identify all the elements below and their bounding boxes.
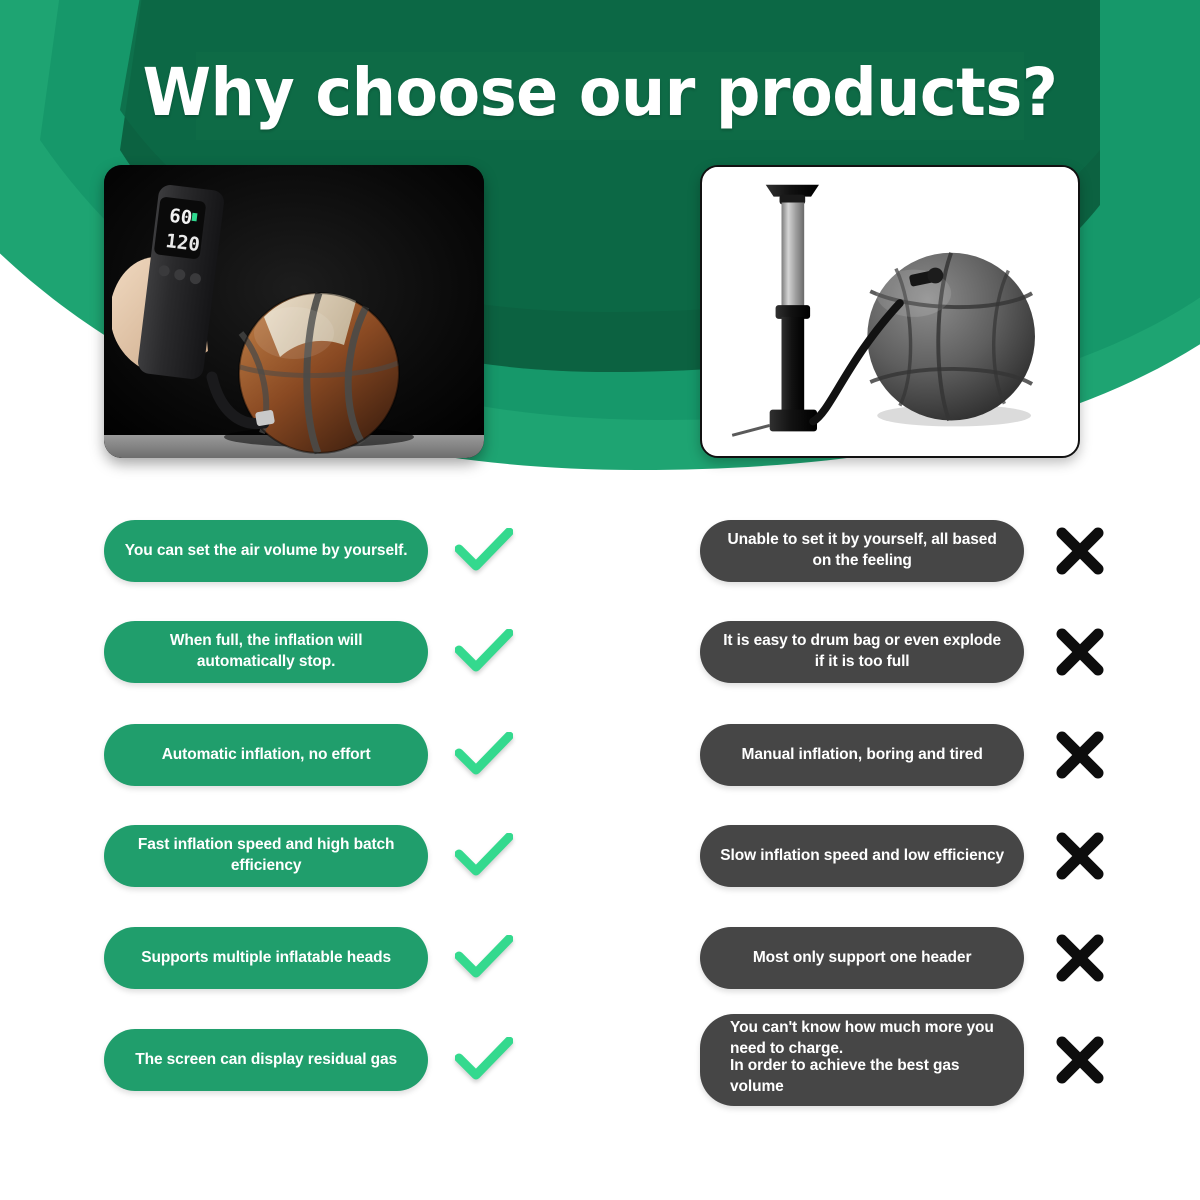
check-mark-2 [434, 629, 534, 675]
con-pill-1[interactable]: Unable to set it by yourself, all based … [700, 520, 1024, 582]
check-icon [455, 732, 513, 778]
pro-row-4[interactable]: Fast inflation speed and high batch effi… [104, 824, 534, 888]
pro-pill-3[interactable]: Automatic inflation, no effort [104, 724, 428, 786]
check-mark-3 [434, 732, 534, 778]
con-row-5[interactable]: Most only support one header [700, 926, 1130, 990]
con-row-6[interactable]: You can't know how much more you need to… [700, 1028, 1130, 1092]
check-icon [455, 833, 513, 879]
check-icon [455, 1037, 513, 1083]
check-icon [455, 528, 513, 574]
con-text-5: Most only support one header [753, 948, 972, 969]
pro-text-4: Fast inflation speed and high batch effi… [124, 835, 408, 876]
con-text-6: In order to achieve the best gas volume [730, 1056, 1004, 1097]
con-pill-4[interactable]: Slow inflation speed and low efficiency [700, 825, 1024, 887]
check-icon [455, 629, 513, 675]
cross-icon [1055, 933, 1105, 983]
pro-text-6: The screen can display residual gas [135, 1050, 397, 1071]
con-row-1[interactable]: Unable to set it by yourself, all based … [700, 519, 1130, 583]
con-row-4[interactable]: Slow inflation speed and low efficiency [700, 824, 1130, 888]
con-pill-3[interactable]: Manual inflation, boring and tired [700, 724, 1024, 786]
pro-text-5: Supports multiple inflatable heads [141, 948, 391, 969]
pro-pill-6[interactable]: The screen can display residual gas [104, 1029, 428, 1091]
cross-icon [1055, 1035, 1105, 1085]
pro-pill-2[interactable]: When full, the inflation will automatica… [104, 621, 428, 683]
cross-mark-6 [1030, 1035, 1130, 1085]
pro-text-3: Automatic inflation, no effort [162, 745, 371, 766]
infographic-root: Why choose our products? [0, 0, 1200, 1200]
check-mark-5 [434, 935, 534, 981]
con-text-2: It is easy to drum bag or even explode i… [720, 631, 1004, 672]
check-mark-1 [434, 528, 534, 574]
pro-text-1: You can set the air volume by yourself. [125, 541, 408, 562]
con-pill-6[interactable]: You can't know how much more you need to… [700, 1014, 1024, 1105]
cross-mark-4 [1030, 831, 1130, 881]
con-row-3[interactable]: Manual inflation, boring and tired [700, 723, 1130, 787]
cross-mark-3 [1030, 730, 1130, 780]
pro-pill-5[interactable]: Supports multiple inflatable heads [104, 927, 428, 989]
cross-icon [1055, 627, 1105, 677]
con-text-1: Unable to set it by yourself, all based … [720, 530, 1004, 571]
pro-row-3[interactable]: Automatic inflation, no effort [104, 723, 534, 787]
con-row-2[interactable]: It is easy to drum bag or even explode i… [700, 620, 1130, 684]
check-icon [455, 935, 513, 981]
check-mark-4 [434, 833, 534, 879]
cross-icon [1055, 831, 1105, 881]
cross-icon [1055, 730, 1105, 780]
cross-mark-5 [1030, 933, 1130, 983]
pro-text-2: When full, the inflation will automatica… [124, 631, 408, 672]
con-pill-5[interactable]: Most only support one header [700, 927, 1024, 989]
cross-mark-1 [1030, 526, 1130, 576]
pro-row-2[interactable]: When full, the inflation will automatica… [104, 620, 534, 684]
check-mark-6 [434, 1037, 534, 1083]
con-text-4: Slow inflation speed and low efficiency [720, 846, 1004, 867]
cross-mark-2 [1030, 627, 1130, 677]
cross-icon [1055, 526, 1105, 576]
pro-pill-4[interactable]: Fast inflation speed and high batch effi… [104, 825, 428, 887]
con-pill-2[interactable]: It is easy to drum bag or even explode i… [700, 621, 1024, 683]
comparison-grid: You can set the air volume by yourself. … [0, 0, 1200, 1200]
pro-row-1[interactable]: You can set the air volume by yourself. [104, 519, 534, 583]
pro-row-5[interactable]: Supports multiple inflatable heads [104, 926, 534, 990]
pro-row-6[interactable]: The screen can display residual gas [104, 1028, 534, 1092]
con-text-6-overflow: You can't know how much more you need to… [730, 1018, 1020, 1058]
con-text-3: Manual inflation, boring and tired [742, 745, 983, 766]
pro-pill-1[interactable]: You can set the air volume by yourself. [104, 520, 428, 582]
